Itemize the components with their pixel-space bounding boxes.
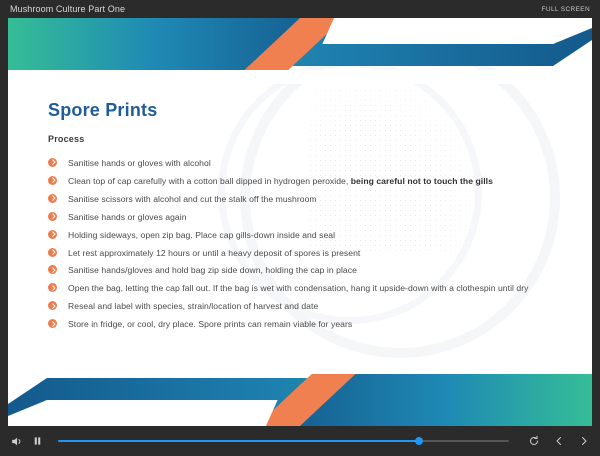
bullet-arrow-icon: [48, 319, 57, 328]
list-item: Store in fridge, or cool, dry place. Spo…: [48, 318, 562, 330]
list-item: Sanitise hands or gloves with alcohol: [48, 157, 562, 169]
chevron-right-icon: [578, 435, 590, 447]
bullet-arrow-icon: [48, 158, 57, 167]
process-bullet-list: Sanitise hands or gloves with alcoholCle…: [48, 157, 562, 331]
bullet-arrow-icon: [48, 265, 57, 274]
bullet-arrow-icon: [48, 212, 57, 221]
play-pause-button[interactable]: [32, 435, 43, 447]
list-item-text: Reseal and label with species, strain/lo…: [68, 300, 318, 312]
list-item-text: Store in fridge, or cool, dry place. Spo…: [68, 318, 352, 330]
bullet-arrow-icon: [48, 283, 57, 292]
replay-button[interactable]: [528, 435, 540, 447]
slide-subtitle: Process: [48, 134, 562, 144]
speaker-icon: [10, 435, 23, 448]
list-item: Let rest approximately 12 hours or until…: [48, 247, 562, 259]
list-item: Reseal and label with species, strain/lo…: [48, 300, 562, 312]
list-item: Sanitise hands or gloves again: [48, 211, 562, 223]
list-item: Sanitise hands/gloves and hold bag zip s…: [48, 264, 562, 276]
list-item-text: Clean top of cap carefully with a cotton…: [68, 175, 493, 187]
list-item-text: Sanitise scissors with alcohol and cut t…: [68, 193, 317, 205]
list-item-text: Sanitise hands or gloves again: [68, 211, 187, 223]
top-banner-graphic: [8, 18, 592, 84]
pause-icon: [32, 435, 43, 447]
slide-content: Spore Prints Process Sanitise hands or g…: [8, 84, 592, 336]
volume-button[interactable]: [10, 435, 23, 448]
list-item-text: Holding sideways, open zip bag. Place ca…: [68, 229, 335, 241]
list-item-text: Sanitise hands or gloves with alcohol: [68, 157, 211, 169]
progress-fill: [58, 440, 419, 442]
bullet-arrow-icon: [48, 194, 57, 203]
title-bar: Mushroom Culture Part One FULL SCREEN: [0, 0, 600, 18]
player-control-bar: [0, 426, 600, 456]
list-item: Sanitise scissors with alcohol and cut t…: [48, 193, 562, 205]
list-item: Holding sideways, open zip bag. Place ca…: [48, 229, 562, 241]
list-item: Clean top of cap carefully with a cotton…: [48, 175, 562, 187]
slide-title: Spore Prints: [48, 100, 562, 121]
top-decorative-banner: [8, 18, 592, 84]
bottom-decorative-banner: [8, 360, 592, 426]
list-item-text: Sanitise hands/gloves and hold bag zip s…: [68, 264, 357, 276]
bullet-arrow-icon: [48, 248, 57, 257]
list-item-emphasis: being careful not to touch the gills: [351, 176, 493, 186]
bullet-arrow-icon: [48, 230, 57, 239]
course-title: Mushroom Culture Part One: [10, 4, 125, 14]
course-player: Mushroom Culture Part One FULL SCREEN: [0, 0, 600, 456]
navigation-controls: [528, 435, 590, 447]
previous-slide-button[interactable]: [553, 435, 565, 447]
replay-icon: [528, 435, 540, 447]
progress-scrubber[interactable]: [415, 437, 423, 445]
list-item-text: Open the bag, letting the cap fall out. …: [68, 282, 529, 294]
chevron-left-icon: [553, 435, 565, 447]
bottom-banner-graphic: [8, 360, 592, 426]
progress-bar[interactable]: [58, 434, 509, 448]
bullet-arrow-icon: [48, 176, 57, 185]
list-item-text: Let rest approximately 12 hours or until…: [68, 247, 360, 259]
bullet-arrow-icon: [48, 301, 57, 310]
list-item: Open the bag, letting the cap fall out. …: [48, 282, 562, 294]
slide-stage: Spore Prints Process Sanitise hands or g…: [8, 18, 592, 426]
fullscreen-button[interactable]: FULL SCREEN: [538, 4, 594, 15]
next-slide-button[interactable]: [578, 435, 590, 447]
